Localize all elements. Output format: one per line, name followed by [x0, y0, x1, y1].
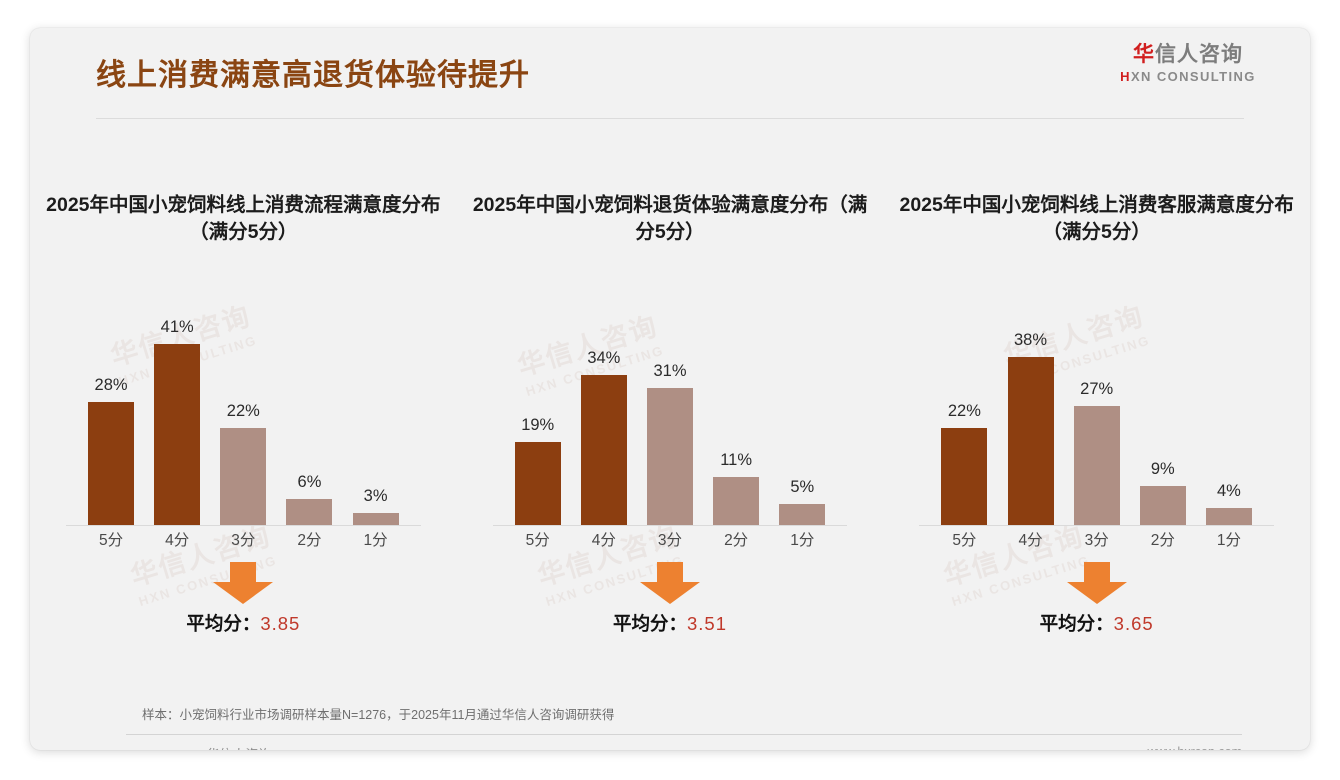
bar-item: 22% [933, 286, 995, 526]
average-block-3: 平均分：3.65 [883, 562, 1310, 636]
bar-value-label: 38% [1014, 331, 1047, 350]
bar [88, 402, 134, 526]
bar [220, 428, 266, 526]
bar-value-label: 3% [364, 487, 388, 506]
x-axis-labels: 5分 4分 3分 2分 1分 [80, 528, 407, 554]
bar [713, 477, 759, 526]
bar [647, 388, 693, 526]
logo-chinese-name: 华信人咨询 [1108, 43, 1268, 67]
logo-english-name: HXN CONSULTING [1108, 69, 1268, 84]
x-tick-label: 3分 [639, 528, 701, 554]
source-footnote: 样本：小宠饲料行业市场调研样本量N=1276，于2025年11月通过华信人咨询调… [142, 704, 614, 723]
header-divider [96, 118, 1244, 119]
average-label: 平均分： [1040, 613, 1114, 634]
chart-title-1: 2025年中国小宠饲料线上消费流程满意度分布（满分5分） [44, 192, 443, 246]
bar-item: 3% [345, 286, 407, 526]
average-value: 3.65 [1114, 613, 1154, 634]
bar [286, 499, 332, 526]
average-score: 平均分：3.65 [883, 610, 1310, 636]
down-arrow-icon [1067, 562, 1127, 602]
x-tick-label: 2分 [278, 528, 340, 554]
bar [1074, 406, 1120, 526]
average-block-1: 平均分：3.85 [30, 562, 457, 636]
average-block-2: 平均分：3.51 [457, 562, 884, 636]
bar-item: 28% [80, 286, 142, 526]
bar-value-label: 6% [298, 473, 322, 492]
bar-item: 11% [705, 286, 767, 526]
bar-group: 28% 41% 22% 6% [80, 286, 407, 526]
x-axis-line [493, 525, 848, 526]
average-score: 平均分：3.51 [457, 610, 884, 636]
website-url: www.hxrcon.com [1148, 745, 1242, 750]
chart-panel-2: 2025年中国小宠饲料退货体验满意度分布（满分5分） 华信人咨询 HXN CON… [457, 134, 884, 674]
average-value: 3.85 [260, 613, 300, 634]
bar-item: 4% [1198, 286, 1260, 526]
chart-panel-1: 2025年中国小宠饲料线上消费流程满意度分布（满分5分） 华信人咨询 HXN C… [30, 134, 457, 674]
copyright-text: ©2026.1 HXR华信人咨询 [126, 744, 271, 750]
bar-value-label: 5% [790, 478, 814, 497]
chart-title-2: 2025年中国小宠饲料退货体验满意度分布（满分5分） [471, 192, 870, 246]
bar-value-label: 19% [521, 416, 554, 435]
bar-value-label: 27% [1080, 380, 1113, 399]
x-tick-label: 1分 [1198, 528, 1260, 554]
average-label: 平均分： [186, 613, 260, 634]
bar-value-label: 22% [948, 402, 981, 421]
bar-value-label: 9% [1151, 460, 1175, 479]
x-tick-label: 3分 [212, 528, 274, 554]
x-tick-label: 4分 [573, 528, 635, 554]
logo-en-rest: XN CONSULTING [1131, 69, 1256, 84]
bar [779, 504, 825, 526]
bar-item: 6% [278, 286, 340, 526]
x-tick-label: 5分 [507, 528, 569, 554]
bar-chart-1: 28% 41% 22% 6% [30, 286, 457, 554]
x-axis-line [919, 525, 1274, 526]
x-axis-labels: 5分 4分 3分 2分 1分 [933, 528, 1260, 554]
x-tick-label: 5分 [933, 528, 995, 554]
bar [515, 442, 561, 526]
bar-group: 22% 38% 27% 9% [933, 286, 1260, 526]
logo-en-accent-char: H [1120, 69, 1131, 84]
bar-value-label: 31% [653, 362, 686, 381]
bar-item: 22% [212, 286, 274, 526]
bar-item: 19% [507, 286, 569, 526]
bar-item: 9% [1132, 286, 1194, 526]
bar-item: 34% [573, 286, 635, 526]
x-axis-labels: 5分 4分 3分 2分 1分 [507, 528, 834, 554]
average-value: 3.51 [687, 613, 727, 634]
bar-value-label: 11% [720, 451, 752, 470]
x-tick-label: 4分 [999, 528, 1061, 554]
x-tick-label: 1分 [771, 528, 833, 554]
x-tick-label: 4分 [146, 528, 208, 554]
average-score: 平均分：3.85 [30, 610, 457, 636]
bar-item: 38% [999, 286, 1061, 526]
slide-canvas: 线上消费满意高退货体验待提升 华信人咨询 HXN CONSULTING 2025… [30, 28, 1310, 750]
company-logo: 华信人咨询 HXN CONSULTING [1108, 43, 1268, 84]
bar [154, 344, 200, 526]
bar [353, 513, 399, 526]
chart-panel-3: 2025年中国小宠饲料线上消费客服满意度分布（满分5分） 华信人咨询 HXN C… [883, 134, 1310, 674]
bar-value-label: 34% [587, 349, 620, 368]
page-title: 线上消费满意高退货体验待提升 [96, 50, 530, 94]
bar-group: 19% 34% 31% 11% [507, 286, 834, 526]
bar [1206, 508, 1252, 526]
bar [581, 375, 627, 526]
slide-header: 线上消费满意高退货体验待提升 华信人咨询 HXN CONSULTING [30, 28, 1310, 120]
bar-chart-3: 22% 38% 27% 9% [883, 286, 1310, 554]
x-tick-label: 1分 [345, 528, 407, 554]
down-arrow-icon [213, 562, 273, 602]
bar-chart-2: 19% 34% 31% 11% [457, 286, 884, 554]
logo-name-rest: 信人咨询 [1155, 43, 1243, 66]
bar-value-label: 28% [95, 376, 128, 395]
x-tick-label: 2分 [1132, 528, 1194, 554]
x-tick-label: 2分 [705, 528, 767, 554]
bar-item: 31% [639, 286, 701, 526]
down-arrow-icon [640, 562, 700, 602]
bar-value-label: 41% [161, 318, 194, 337]
bar-value-label: 22% [227, 402, 260, 421]
average-label: 平均分： [613, 613, 687, 634]
bar [941, 428, 987, 526]
bar-value-label: 4% [1217, 482, 1241, 501]
charts-row: 2025年中国小宠饲料线上消费流程满意度分布（满分5分） 华信人咨询 HXN C… [30, 134, 1310, 674]
bar [1140, 486, 1186, 526]
footer-divider [126, 734, 1242, 735]
x-tick-label: 5分 [80, 528, 142, 554]
chart-title-3: 2025年中国小宠饲料线上消费客服满意度分布（满分5分） [897, 192, 1296, 246]
bar-item: 41% [146, 286, 208, 526]
x-tick-label: 3分 [1066, 528, 1128, 554]
bar-item: 5% [771, 286, 833, 526]
x-axis-line [66, 525, 421, 526]
logo-accent-char: 华 [1133, 43, 1155, 66]
bar-item: 27% [1066, 286, 1128, 526]
bar [1008, 357, 1054, 526]
